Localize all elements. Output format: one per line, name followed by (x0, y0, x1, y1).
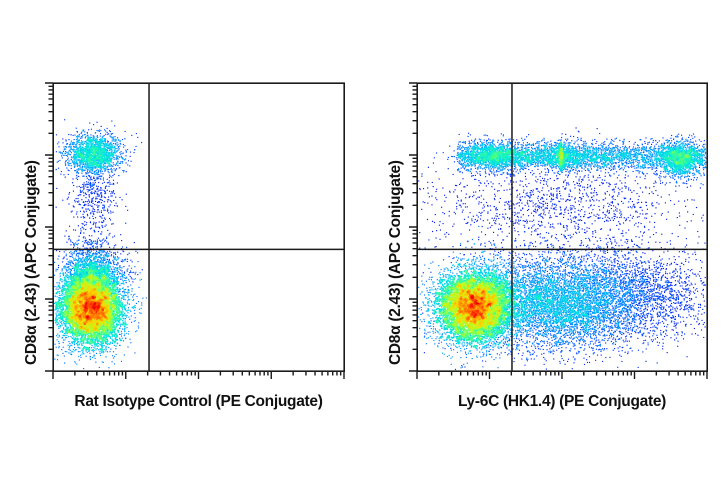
x-axis-label-right: Ly-6C (HK1.4) (PE Conjugate) (377, 393, 723, 411)
ly6c-plot-canvas[interactable] (395, 69, 721, 393)
x-axis-label-left: Rat Isotype Control (PE Conjugate) (13, 393, 384, 411)
y-axis-label-left: CD8α (2.43) (APC Conjugate) (23, 160, 41, 365)
ly6c-panel: CD8α (2.43) (APC Conjugate) Ly-6C (HK1.4… (368, 0, 723, 487)
isotype-control-plot-canvas[interactable] (31, 69, 358, 393)
flow-cytometry-figure: CD8α (2.43) (APC Conjugate) Rat Isotype … (0, 0, 723, 487)
isotype-control-panel: CD8α (2.43) (APC Conjugate) Rat Isotype … (0, 0, 368, 487)
y-axis-label-right: CD8α (2.43) (APC Conjugate) (387, 160, 405, 365)
